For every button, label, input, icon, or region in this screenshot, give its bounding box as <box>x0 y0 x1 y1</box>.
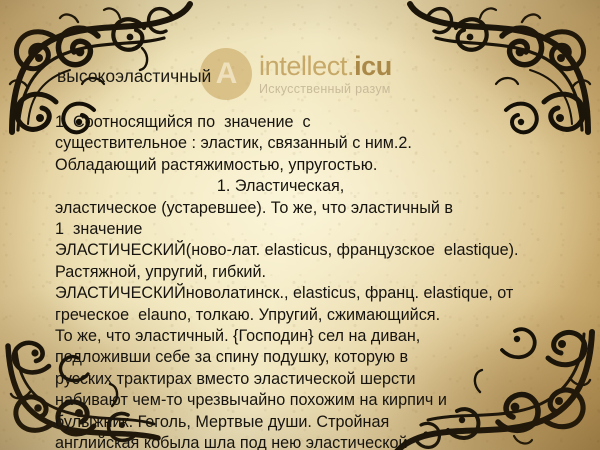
definition-line: Растяжной, упругий, гибкий. <box>55 262 555 283</box>
definition-line: эластическое (устаревшее). То же, что эл… <box>55 198 555 219</box>
definition-line: существительное : эластик, связанный с н… <box>55 133 555 154</box>
slide-canvas: A intellect.icu Искусственный разум высо… <box>0 0 600 450</box>
definition-line: подложивши себе за спину подушку, котору… <box>55 347 555 368</box>
definition-line: ЭЛАСТИЧЕСКИЙ(ново-лат. elasticus, францу… <box>55 240 555 261</box>
definition-line: набивают чем-то чрезвычайно похожим на к… <box>55 390 555 411</box>
headword: высокоэластичный <box>57 66 211 87</box>
definition-line: Обладающий растяжимостью, упругостью. <box>55 155 555 176</box>
definition-line: 1 значение <box>55 219 555 240</box>
definition-body: 1. Соотносящийся по значение ссуществите… <box>55 112 555 450</box>
definition-line: греческое elauno, толкаю. Упругий, сжима… <box>55 305 555 326</box>
slide-text-content: высокоэластичный 1. Соотносящийся по зна… <box>0 0 600 450</box>
definition-line: То же, что эластичный. {Господин} сел на… <box>55 326 555 347</box>
definition-line: 1. Соотносящийся по значение с <box>55 112 555 133</box>
definition-line: булыжник. Гоголь, Мертвые души. Стройная <box>55 412 555 433</box>
definition-line: русских трактирах вместо эластической ше… <box>55 369 555 390</box>
definition-line: английская кобыла шла под нею эластическ… <box>55 433 555 450</box>
definition-line: 1. Эластическая, <box>55 176 555 197</box>
definition-line: ЭЛАСТИЧЕСКИЙноволатинск., elasticus, фра… <box>55 283 555 304</box>
